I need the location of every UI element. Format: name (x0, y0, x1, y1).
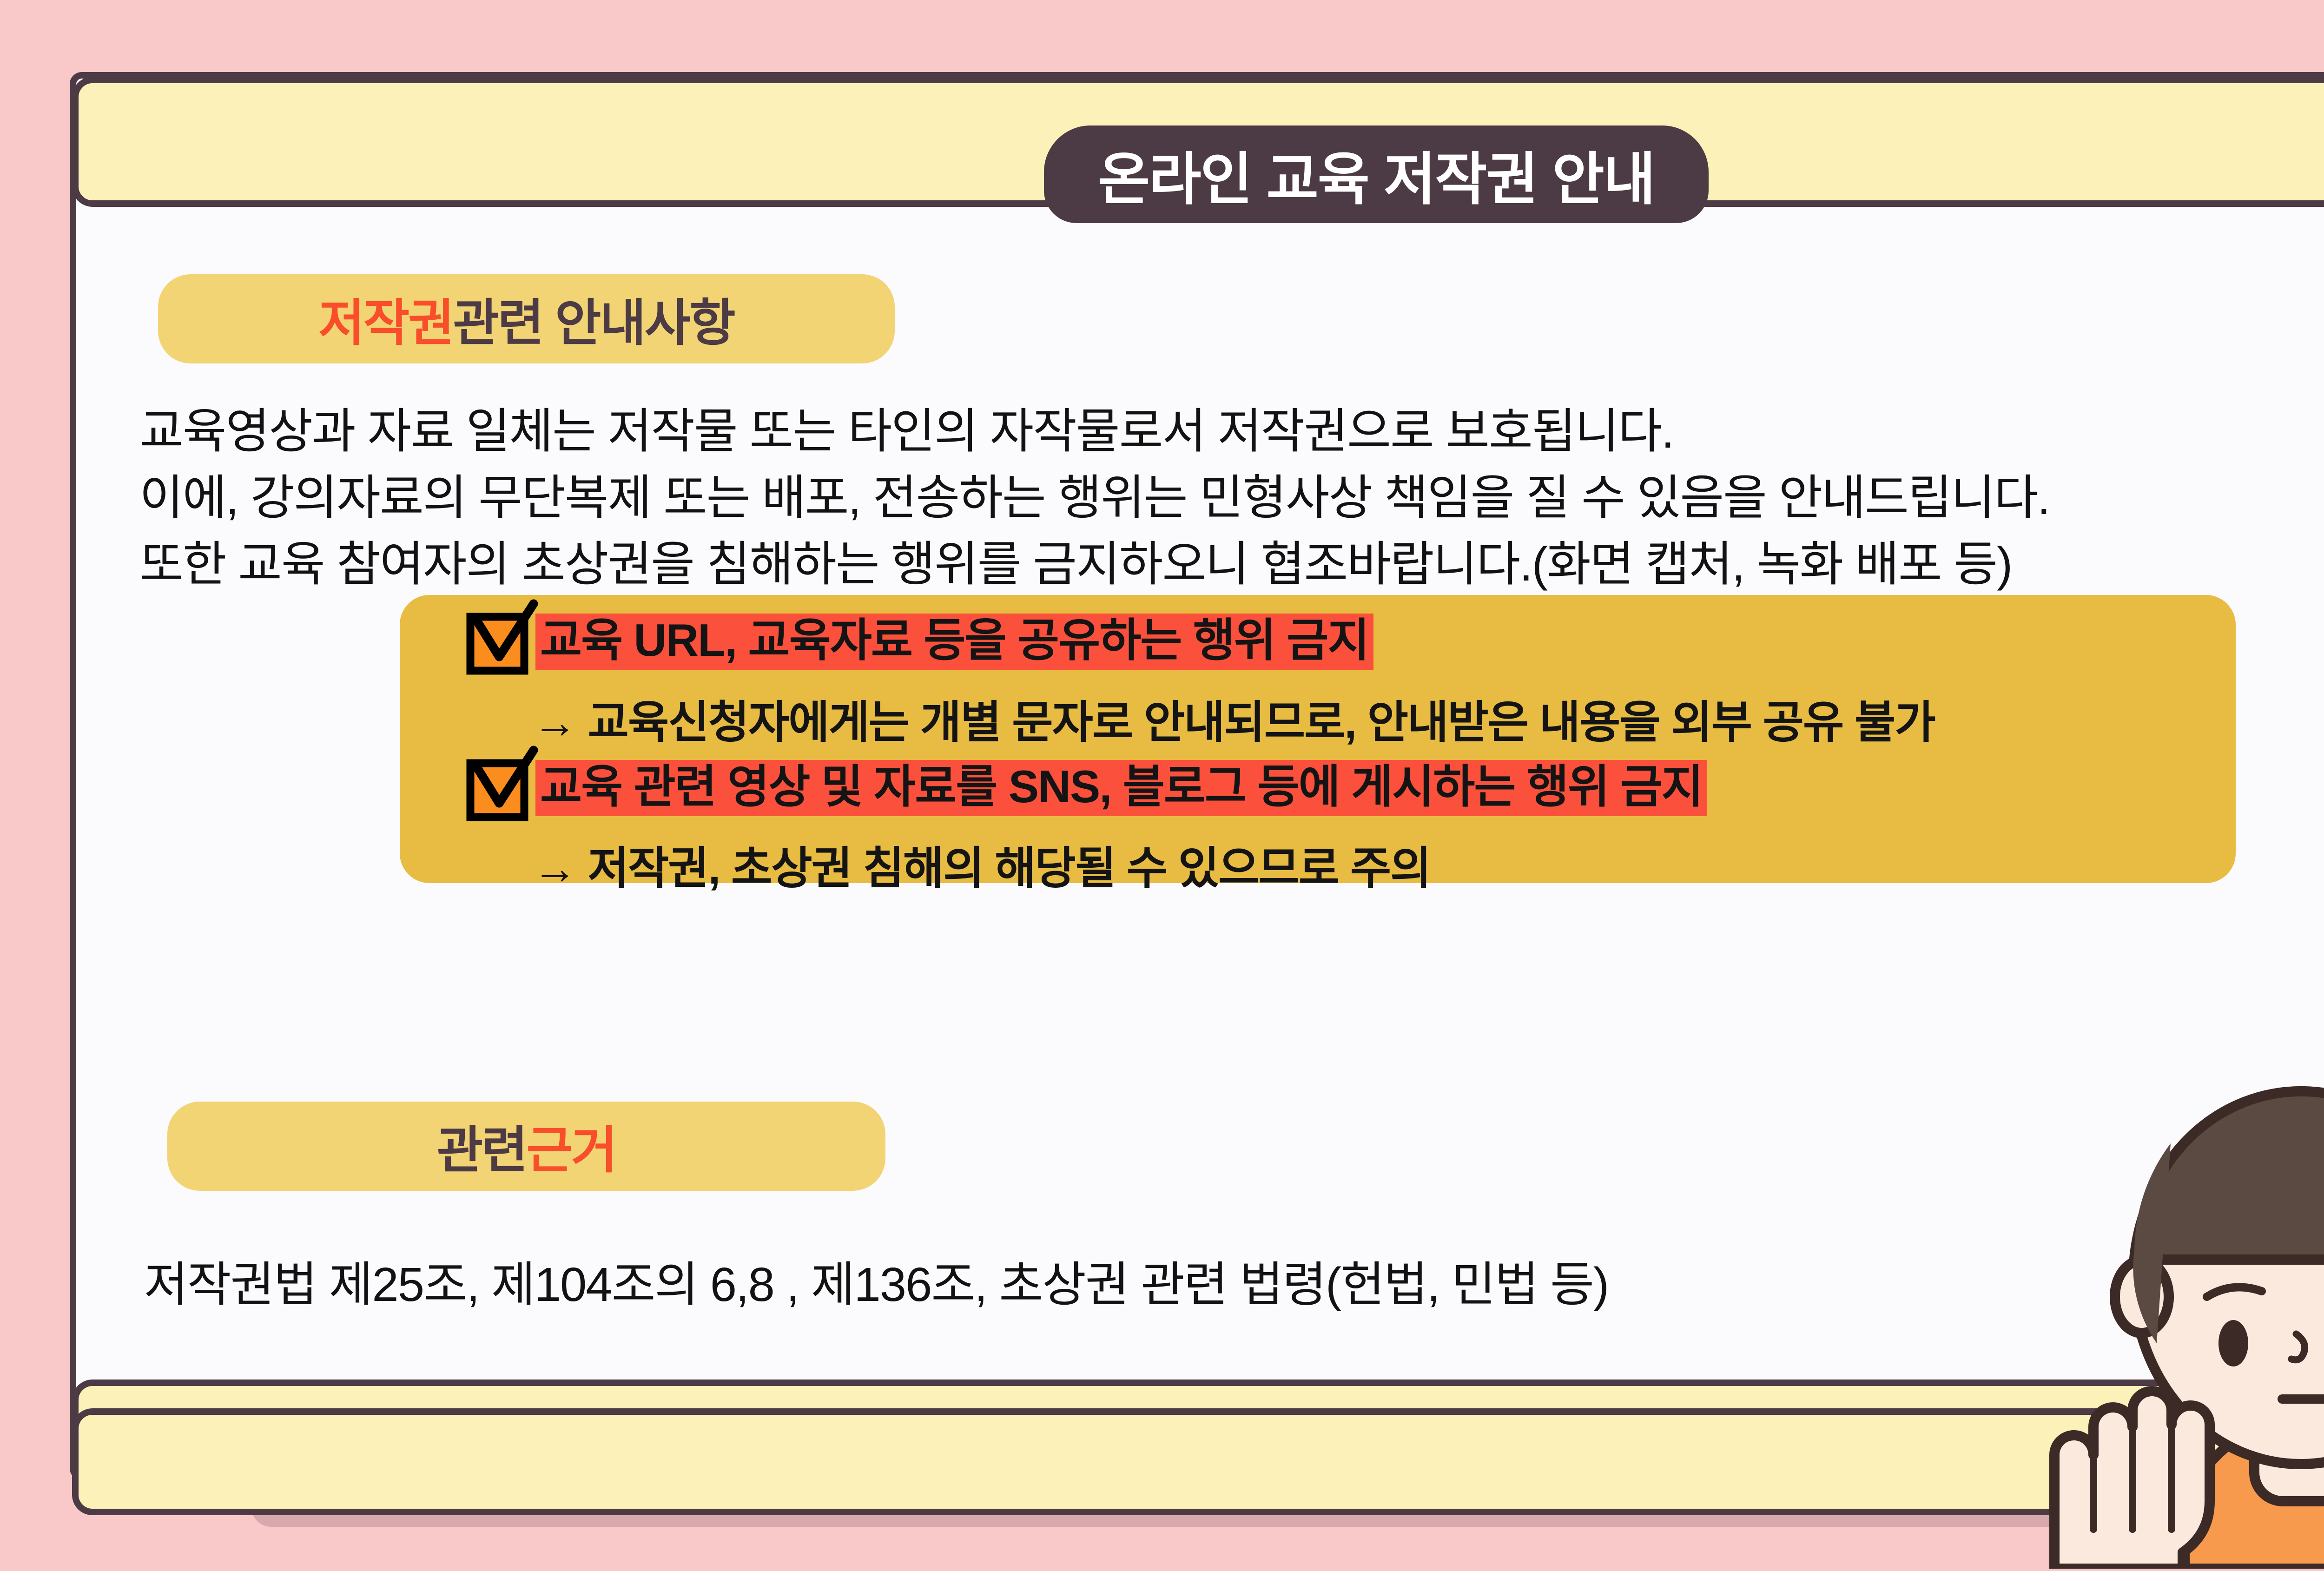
basis-badge-accent: 근거 (527, 1110, 616, 1182)
stop-hand (2054, 1391, 2210, 1569)
notice-paragraph-line-2: 이에, 강의자료의 무단복제 또는 배포, 전송하는 행위는 민형사상 책임을 … (139, 466, 2324, 530)
content-area: 저작권 관련 안내사항 교육영상과 자료 일체는 저작물 또는 타인의 자작물로… (79, 218, 2324, 1380)
checkbox-checked-icon (469, 614, 524, 669)
siren-alert-icon (2308, 172, 2324, 425)
rule-item-1: 교육 URL, 교육자료 등을 공유하는 행위 금지 (469, 614, 1373, 670)
notice-paragraph: 교육영상과 자료 일체는 저작물 또는 타인의 자작물로서 저작권으로 보호됩니… (139, 400, 2324, 599)
rule-1-highlight-text: 교육 URL, 교육자료 등을 공유하는 행위 금지 (535, 614, 1373, 670)
notice-paragraph-line-3: 또한 교육 참여자의 초상권을 침해하는 행위를 금지하오니 협조바랍니다.(화… (139, 533, 2324, 596)
notice-badge-accent: 저작권 (318, 283, 453, 355)
page-title-text: 온라인 교육 저작권 안내 (1098, 133, 1655, 216)
rule-item-2: 교육 관련 영상 및 자료를 SNS, 블로그 등에 게시하는 행위 금지 (469, 760, 1707, 816)
rule-2-detail-text: → 저작권, 초상권 침해의 해당될 수 있으므로 주의 (533, 832, 1430, 897)
boy-stop-gesture-illustration (2031, 925, 2324, 1571)
rules-callout-box: 교육 URL, 교육자료 등을 공유하는 행위 금지 → 교육신청자에게는 개별… (400, 595, 2236, 883)
checkbox-checked-icon (469, 760, 524, 815)
rule-1-detail-text: → 교육신청자에게는 개별 문자로 안내되므로, 안내받은 내용을 외부 공유 … (533, 686, 1935, 751)
basis-badge-dark: 관련 (437, 1110, 527, 1182)
poster-root: 온라인 교육 저작권 안내 저작권 관련 안내사항 교육영상과 자료 일체는 저… (0, 0, 2324, 1569)
notice-section-badge: 저작권 관련 안내사항 (158, 274, 895, 363)
basis-section-badge: 관련 근거 (167, 1102, 885, 1191)
rule-2-highlight-text: 교육 관련 영상 및 자료를 SNS, 블로그 등에 게시하는 행위 금지 (535, 760, 1707, 816)
notice-paragraph-line-1: 교육영상과 자료 일체는 저작물 또는 타인의 자작물로서 저작권으로 보호됩니… (139, 400, 2324, 463)
bottom-bar-lower (72, 1408, 2324, 1515)
notice-badge-dark: 관련 안내사항 (453, 283, 734, 355)
page-title: 온라인 교육 저작권 안내 (1044, 125, 1709, 223)
legal-citation-text: 저작권법 제25조, 제104조의 6,8 , 제136조, 초상권 관련 법령… (144, 1246, 1608, 1315)
